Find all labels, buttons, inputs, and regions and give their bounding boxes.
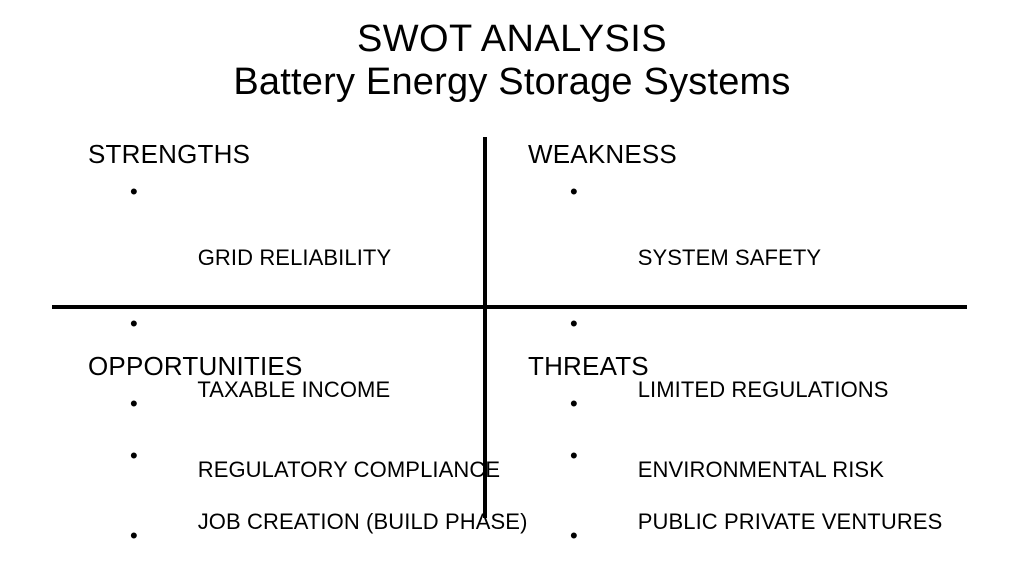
list-item: • ENVIRONMENTAL RISK (528, 387, 988, 519)
list-item-label: REGULATORY COMPLIANCE (198, 457, 500, 482)
swot-analysis-slide: SWOT ANALYSIS Battery Energy Storage Sys… (0, 0, 1024, 576)
list-item: • CYBER SECURITY (528, 519, 988, 576)
quadrant-weakness-heading: WEAKNESS (528, 140, 988, 169)
title-line-secondary: Battery Energy Storage Systems (0, 61, 1024, 104)
bullet-dot-icon: • (130, 519, 138, 552)
list-item: • REGULATORY COMPLIANCE (88, 387, 468, 519)
list-item: • GRID RELIABILITY (88, 175, 468, 307)
list-item: • SYSTEM SAFETY (528, 175, 988, 307)
title-line-primary: SWOT ANALYSIS (0, 18, 1024, 61)
quadrant-opportunities-list: • REGULATORY COMPLIANCE • ECONOMIC BOOST… (88, 387, 468, 576)
quadrant-threats: THREATS • ENVIRONMENTAL RISK • CYBER SEC… (528, 352, 988, 576)
bullet-dot-icon: • (570, 307, 578, 340)
quadrant-opportunities-heading: OPPORTUNITIES (88, 352, 468, 381)
quadrant-opportunities: OPPORTUNITIES • REGULATORY COMPLIANCE • … (88, 352, 468, 576)
bullet-dot-icon: • (570, 387, 578, 420)
quadrant-threats-heading: THREATS (528, 352, 988, 381)
quadrant-strengths-heading: STRENGTHS (88, 140, 468, 169)
list-item-label: SYSTEM SAFETY (638, 245, 821, 270)
bullet-dot-icon: • (570, 519, 578, 552)
bullet-dot-icon: • (130, 307, 138, 340)
list-item-label: GRID RELIABILITY (198, 245, 392, 270)
bullet-dot-icon: • (130, 175, 138, 208)
list-item-label: ENVIRONMENTAL RISK (638, 457, 884, 482)
list-item: • ECONOMIC BOOST (88, 519, 468, 576)
bullet-dot-icon: • (570, 175, 578, 208)
slide-title: SWOT ANALYSIS Battery Energy Storage Sys… (0, 18, 1024, 103)
quadrant-threats-list: • ENVIRONMENTAL RISK • CYBER SECURITY • … (528, 387, 988, 576)
bullet-dot-icon: • (130, 387, 138, 420)
